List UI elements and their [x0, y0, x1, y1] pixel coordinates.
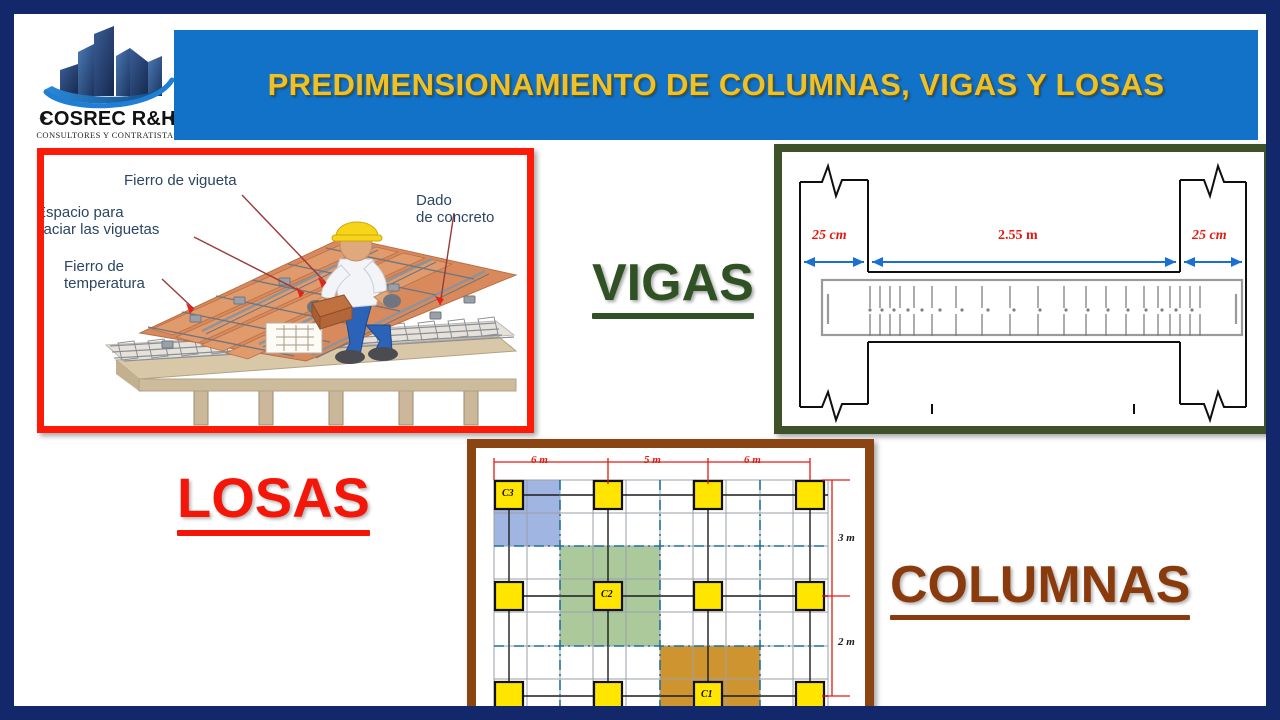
- plan-dim-top-1: 6 m: [531, 454, 548, 466]
- section-label-losas-text: LOSAS: [177, 470, 370, 526]
- note-fierro-temperatura: Fierro de temperatura: [64, 259, 145, 293]
- page-title: PREDIMENSIONAMIENTO DE COLUMNAS, VIGAS Y…: [174, 30, 1258, 140]
- section-label-losas: LOSAS: [177, 470, 370, 536]
- column-tag-c1: C1: [701, 689, 713, 700]
- section-label-vigas: VIGAS: [592, 257, 754, 319]
- section-label-columnas-text: COLUMNAS: [890, 559, 1190, 611]
- dim-right-support: 25 cm: [1192, 228, 1227, 244]
- column-tributary-plan: [476, 448, 865, 706]
- logo-star-left-icon: ✦: [38, 112, 49, 125]
- section-label-columnas: COLUMNAS: [890, 559, 1190, 620]
- company-logo: COSREC R&H ✦ ✦ CONSULTORES Y CONTRATISTA…: [30, 22, 185, 150]
- column-tag-c3: C3: [502, 488, 514, 499]
- beam-section-drawing: [782, 152, 1264, 426]
- column-tag-c2: C2: [601, 589, 613, 600]
- columnas-image-panel: 6 m 5 m 6 m 3 m 2 m C3 C2 C1: [467, 439, 874, 706]
- vigas-image-panel: 25 cm 2.55 m 25 cm: [774, 144, 1266, 434]
- slide-canvas: COSREC R&H ✦ ✦ CONSULTORES Y CONTRATISTA…: [14, 14, 1266, 706]
- title-banner: PREDIMENSIONAMIENTO DE COLUMNAS, VIGAS Y…: [174, 30, 1258, 140]
- losas-image-panel: Fierro de vigueta Espacio para vaciar la…: [37, 148, 534, 433]
- note-espacio-vaciar: Espacio para vaciar las viguetas: [44, 205, 159, 239]
- plan-dim-side-2: 2 m: [838, 636, 855, 648]
- dim-left-support: 25 cm: [812, 228, 847, 244]
- dim-clear-span: 2.55 m: [998, 228, 1038, 244]
- plan-dim-side-1: 3 m: [838, 532, 855, 544]
- section-label-losas-underline: [177, 530, 370, 536]
- note-fierro-vigueta: Fierro de vigueta: [124, 173, 237, 190]
- logo-name: COSREC R&H: [30, 108, 185, 131]
- building-logo-icon: [30, 22, 185, 114]
- section-label-vigas-underline: [592, 313, 754, 319]
- section-label-vigas-text: VIGAS: [592, 257, 754, 309]
- plan-dim-top-3: 6 m: [744, 454, 761, 466]
- logo-subtitle: CONSULTORES Y CONTRATISTAS: [30, 130, 185, 140]
- slide-frame: COSREC R&H ✦ ✦ CONSULTORES Y CONTRATISTA…: [0, 0, 1280, 720]
- plan-dim-top-2: 5 m: [644, 454, 661, 466]
- section-label-columnas-underline: [890, 615, 1190, 620]
- note-dado-concreto: Dado de concreto: [416, 193, 494, 227]
